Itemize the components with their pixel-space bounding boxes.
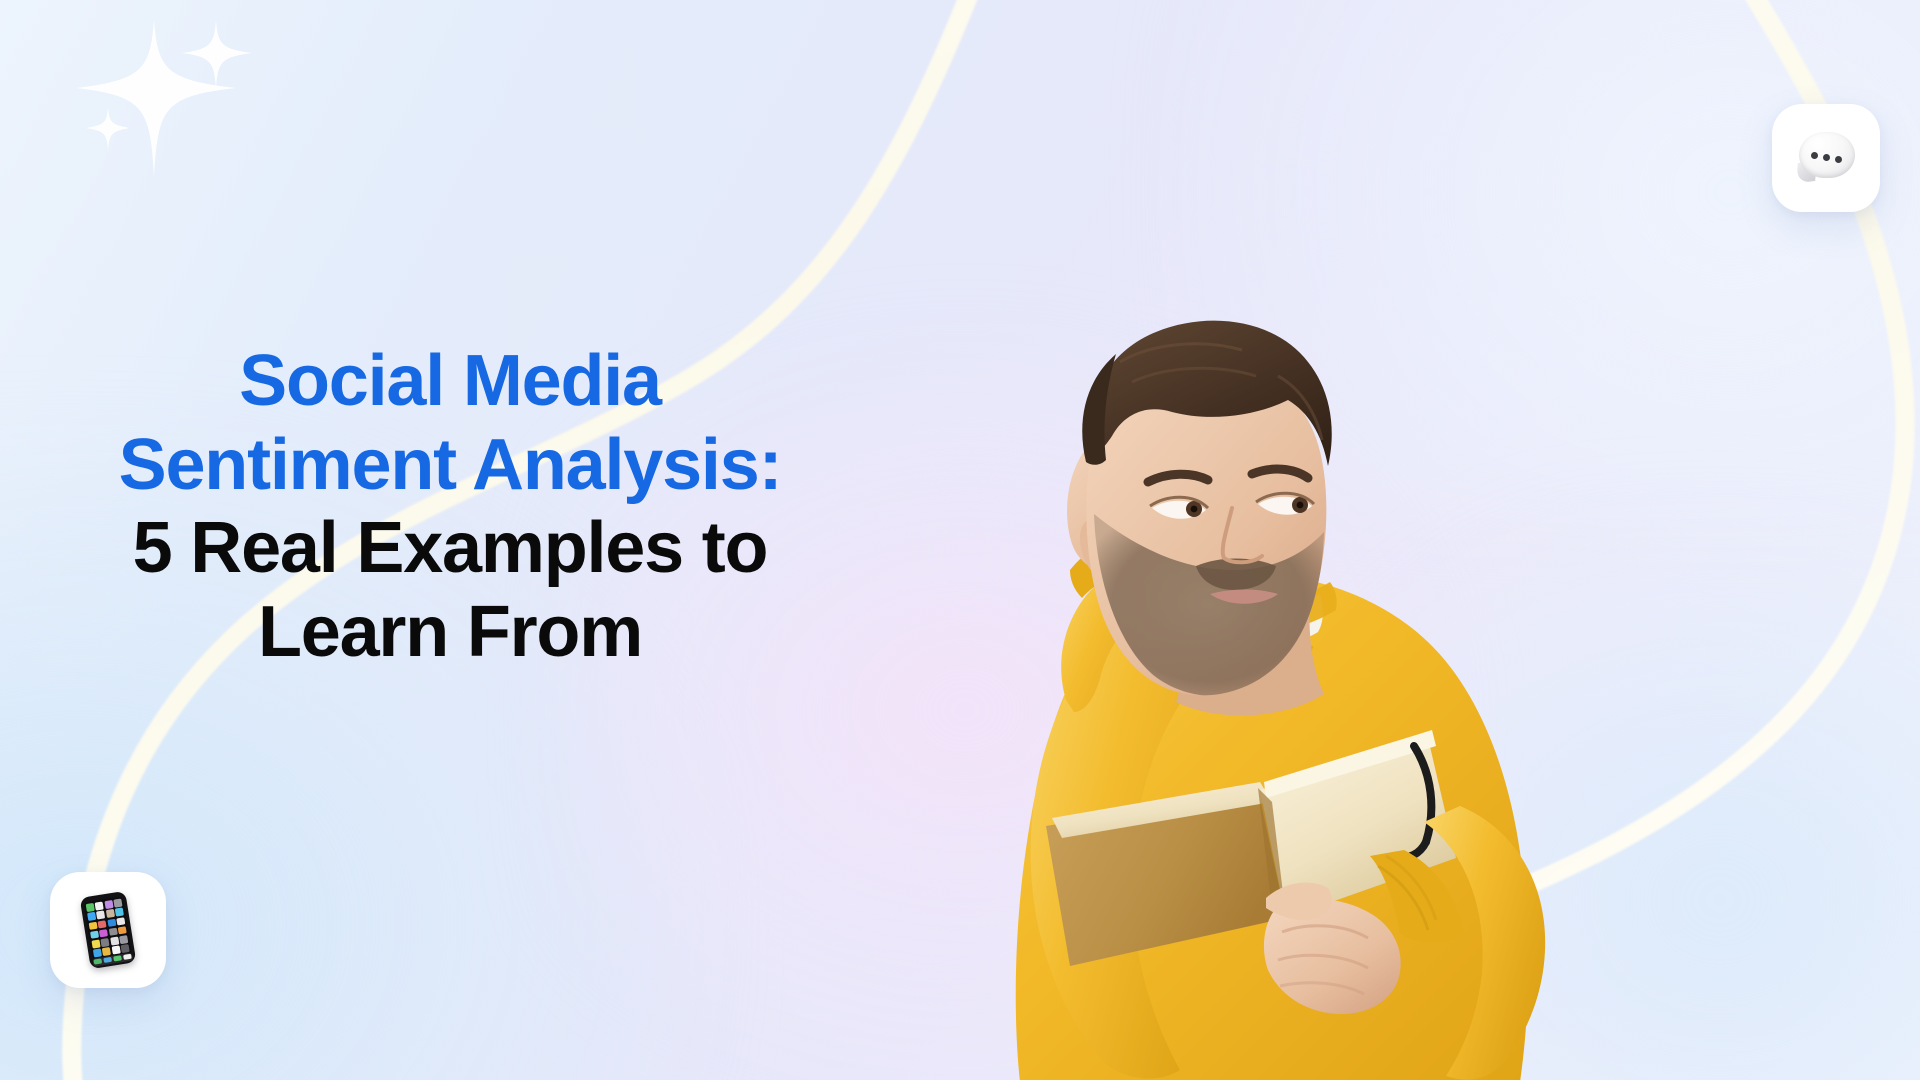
thinking-man-photo [880, 270, 1620, 1080]
sparkle-cluster [66, 14, 256, 194]
headline-line-1: Social Media [60, 340, 840, 424]
headline-line-2: Sentiment Analysis: [60, 424, 840, 508]
page-title: Social Media Sentiment Analysis: 5 Real … [60, 340, 840, 674]
headline-line-3: 5 Real Examples to [60, 507, 840, 591]
mobile-phone-icon [80, 891, 137, 969]
hero-banner: Social Media Sentiment Analysis: 5 Real … [0, 0, 1920, 1080]
sparkle-small-icon [86, 106, 130, 152]
phone-card[interactable] [50, 872, 166, 988]
speech-bubble-icon [1795, 132, 1857, 184]
sparkle-medium-icon [182, 20, 252, 88]
chat-bubble-card[interactable] [1772, 104, 1880, 212]
headline-line-4: Learn From [60, 591, 840, 675]
